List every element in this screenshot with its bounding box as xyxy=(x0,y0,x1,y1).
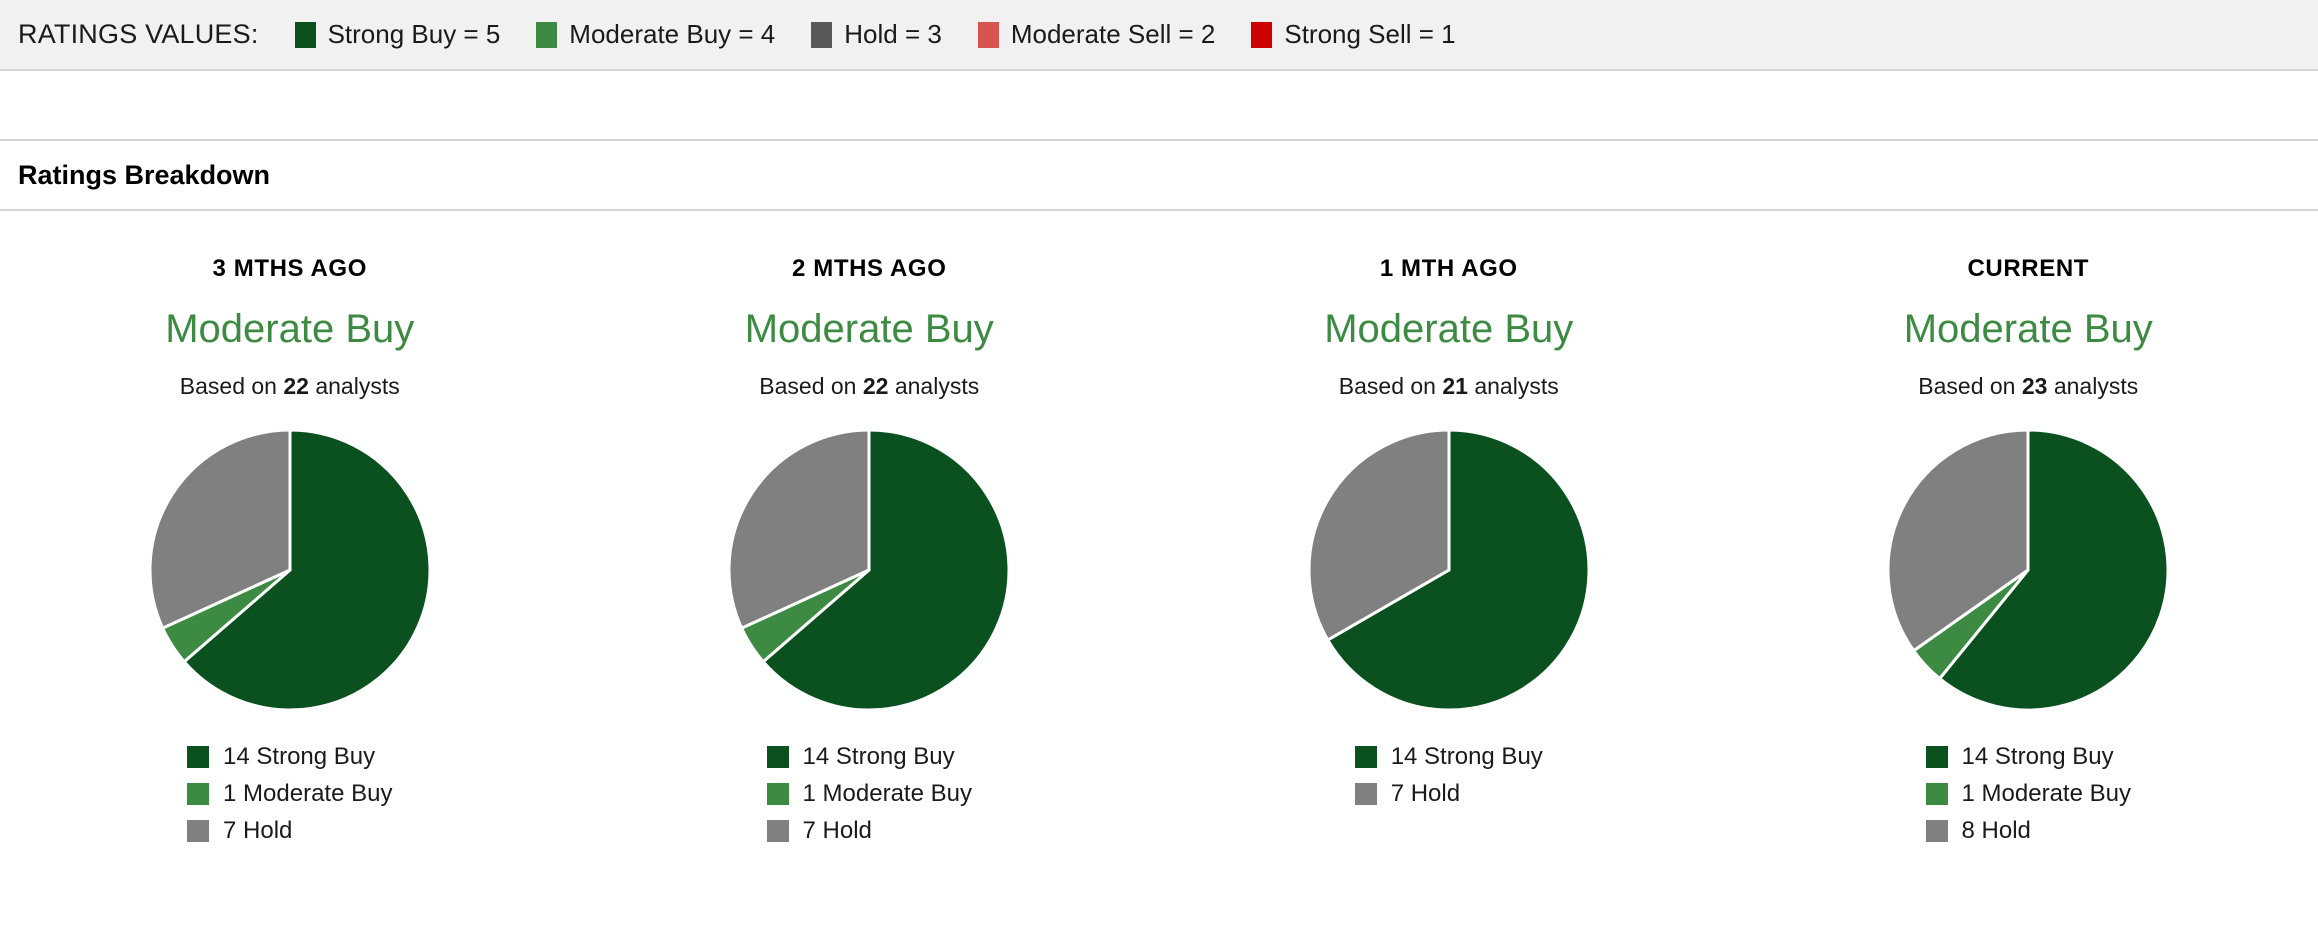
pie-legend-row: 8 Hold xyxy=(1926,812,2031,849)
pie-legend-row: 1 Moderate Buy xyxy=(1926,775,2131,812)
pie-legend-label: 7 Hold xyxy=(803,817,872,845)
column-title: 3 MTHS AGO xyxy=(213,255,367,283)
ratings-breakdown-header: Ratings Breakdown xyxy=(0,141,2318,211)
analyst-count-text: Based on 22 analysts xyxy=(180,373,400,400)
analyst-count: 22 xyxy=(863,373,889,399)
breakdown-column-current: CURRENT Moderate Buy Based on 23 analyst… xyxy=(1739,255,2318,849)
analyst-count-text: Based on 21 analysts xyxy=(1339,373,1559,400)
pie-legend: 14 Strong Buy7 Hold xyxy=(1355,738,1543,812)
ratings-value-label: Moderate Buy = 4 xyxy=(569,19,775,50)
pie-legend-label: 14 Strong Buy xyxy=(1391,743,1543,771)
analyst-count-text: Based on 23 analysts xyxy=(1918,373,2138,400)
ratings-value-label: Strong Sell = 1 xyxy=(1284,19,1455,50)
based-suffix: analysts xyxy=(309,373,400,399)
pie-legend-label: 14 Strong Buy xyxy=(1962,743,2114,771)
pie-legend-row: 7 Hold xyxy=(1355,775,1460,812)
legend-swatch-icon xyxy=(1926,820,1948,842)
pie-legend-row: 1 Moderate Buy xyxy=(767,775,972,812)
legend-swatch-icon xyxy=(767,783,789,805)
strong-buy-swatch-icon xyxy=(295,22,316,48)
column-title: CURRENT xyxy=(1967,255,2089,283)
ratings-value-label: Moderate Sell = 2 xyxy=(1011,19,1216,50)
strong-sell-swatch-icon xyxy=(1251,22,1272,48)
ratings-value-label: Strong Buy = 5 xyxy=(328,19,501,50)
legend-swatch-icon xyxy=(767,820,789,842)
spacer-band xyxy=(0,71,2318,141)
ratings-value-item: Moderate Sell = 2 xyxy=(978,19,1216,50)
pie-legend-label: 1 Moderate Buy xyxy=(803,780,972,808)
pie-legend: 14 Strong Buy1 Moderate Buy7 Hold xyxy=(187,738,392,849)
legend-swatch-icon xyxy=(1355,783,1377,805)
ratings-value-item: Moderate Buy = 4 xyxy=(536,19,775,50)
legend-swatch-icon xyxy=(187,746,209,768)
consensus-rating: Moderate Buy xyxy=(1324,309,1573,349)
legend-swatch-icon xyxy=(1926,783,1948,805)
consensus-rating: Moderate Buy xyxy=(745,309,994,349)
pie-legend-label: 1 Moderate Buy xyxy=(223,780,392,808)
analyst-count: 21 xyxy=(1442,373,1468,399)
ratings-values-legend: Strong Buy = 5 Moderate Buy = 4 Hold = 3… xyxy=(295,19,1492,50)
page-title: Ratings Breakdown xyxy=(18,160,270,191)
ratings-pie-chart xyxy=(148,428,432,712)
based-prefix: Based on xyxy=(1339,373,1443,399)
based-prefix: Based on xyxy=(759,373,863,399)
pie-legend-label: 7 Hold xyxy=(223,817,292,845)
consensus-rating: Moderate Buy xyxy=(165,309,414,349)
pie-legend-row: 1 Moderate Buy xyxy=(187,775,392,812)
analyst-count-text: Based on 22 analysts xyxy=(759,373,979,400)
pie-legend-label: 14 Strong Buy xyxy=(803,743,955,771)
pie-legend-row: 14 Strong Buy xyxy=(1355,738,1543,775)
based-suffix: analysts xyxy=(888,373,979,399)
based-suffix: analysts xyxy=(2047,373,2138,399)
ratings-pie-chart xyxy=(727,428,1011,712)
pie-legend: 14 Strong Buy1 Moderate Buy7 Hold xyxy=(767,738,972,849)
legend-swatch-icon xyxy=(187,820,209,842)
analyst-count: 23 xyxy=(2022,373,2048,399)
pie-legend-row: 14 Strong Buy xyxy=(187,738,375,775)
legend-swatch-icon xyxy=(187,783,209,805)
ratings-value-item: Strong Sell = 1 xyxy=(1251,19,1455,50)
ratings-breakdown-columns: 3 MTHS AGO Moderate Buy Based on 22 anal… xyxy=(0,211,2318,849)
based-prefix: Based on xyxy=(180,373,284,399)
pie-legend: 14 Strong Buy1 Moderate Buy8 Hold xyxy=(1926,738,2131,849)
moderate-sell-swatch-icon xyxy=(978,22,999,48)
hold-swatch-icon xyxy=(811,22,832,48)
pie-legend-row: 14 Strong Buy xyxy=(767,738,955,775)
legend-swatch-icon xyxy=(767,746,789,768)
legend-swatch-icon xyxy=(1355,746,1377,768)
ratings-pie-chart xyxy=(1886,428,2170,712)
column-title: 1 MTH AGO xyxy=(1380,255,1518,283)
ratings-value-item: Strong Buy = 5 xyxy=(295,19,501,50)
breakdown-column-1-mth-ago: 1 MTH AGO Moderate Buy Based on 21 analy… xyxy=(1159,255,1739,849)
pie-legend-label: 1 Moderate Buy xyxy=(1962,780,2131,808)
pie-legend-row: 14 Strong Buy xyxy=(1926,738,2114,775)
based-suffix: analysts xyxy=(1468,373,1559,399)
pie-legend-label: 7 Hold xyxy=(1391,780,1460,808)
breakdown-column-3-mths-ago: 3 MTHS AGO Moderate Buy Based on 22 anal… xyxy=(0,255,580,849)
ratings-values-title: RATINGS VALUES: xyxy=(18,19,259,50)
column-title: 2 MTHS AGO xyxy=(792,255,946,283)
ratings-value-label: Hold = 3 xyxy=(844,19,942,50)
moderate-buy-swatch-icon xyxy=(536,22,557,48)
pie-legend-label: 8 Hold xyxy=(1962,817,2031,845)
ratings-value-item: Hold = 3 xyxy=(811,19,942,50)
pie-legend-label: 14 Strong Buy xyxy=(223,743,375,771)
legend-swatch-icon xyxy=(1926,746,1948,768)
pie-legend-row: 7 Hold xyxy=(187,812,292,849)
consensus-rating: Moderate Buy xyxy=(1904,309,2153,349)
pie-legend-row: 7 Hold xyxy=(767,812,872,849)
analyst-count: 22 xyxy=(283,373,309,399)
ratings-values-bar: RATINGS VALUES: Strong Buy = 5 Moderate … xyxy=(0,0,2318,71)
breakdown-column-2-mths-ago: 2 MTHS AGO Moderate Buy Based on 22 anal… xyxy=(580,255,1160,849)
ratings-pie-chart xyxy=(1307,428,1591,712)
based-prefix: Based on xyxy=(1918,373,2022,399)
